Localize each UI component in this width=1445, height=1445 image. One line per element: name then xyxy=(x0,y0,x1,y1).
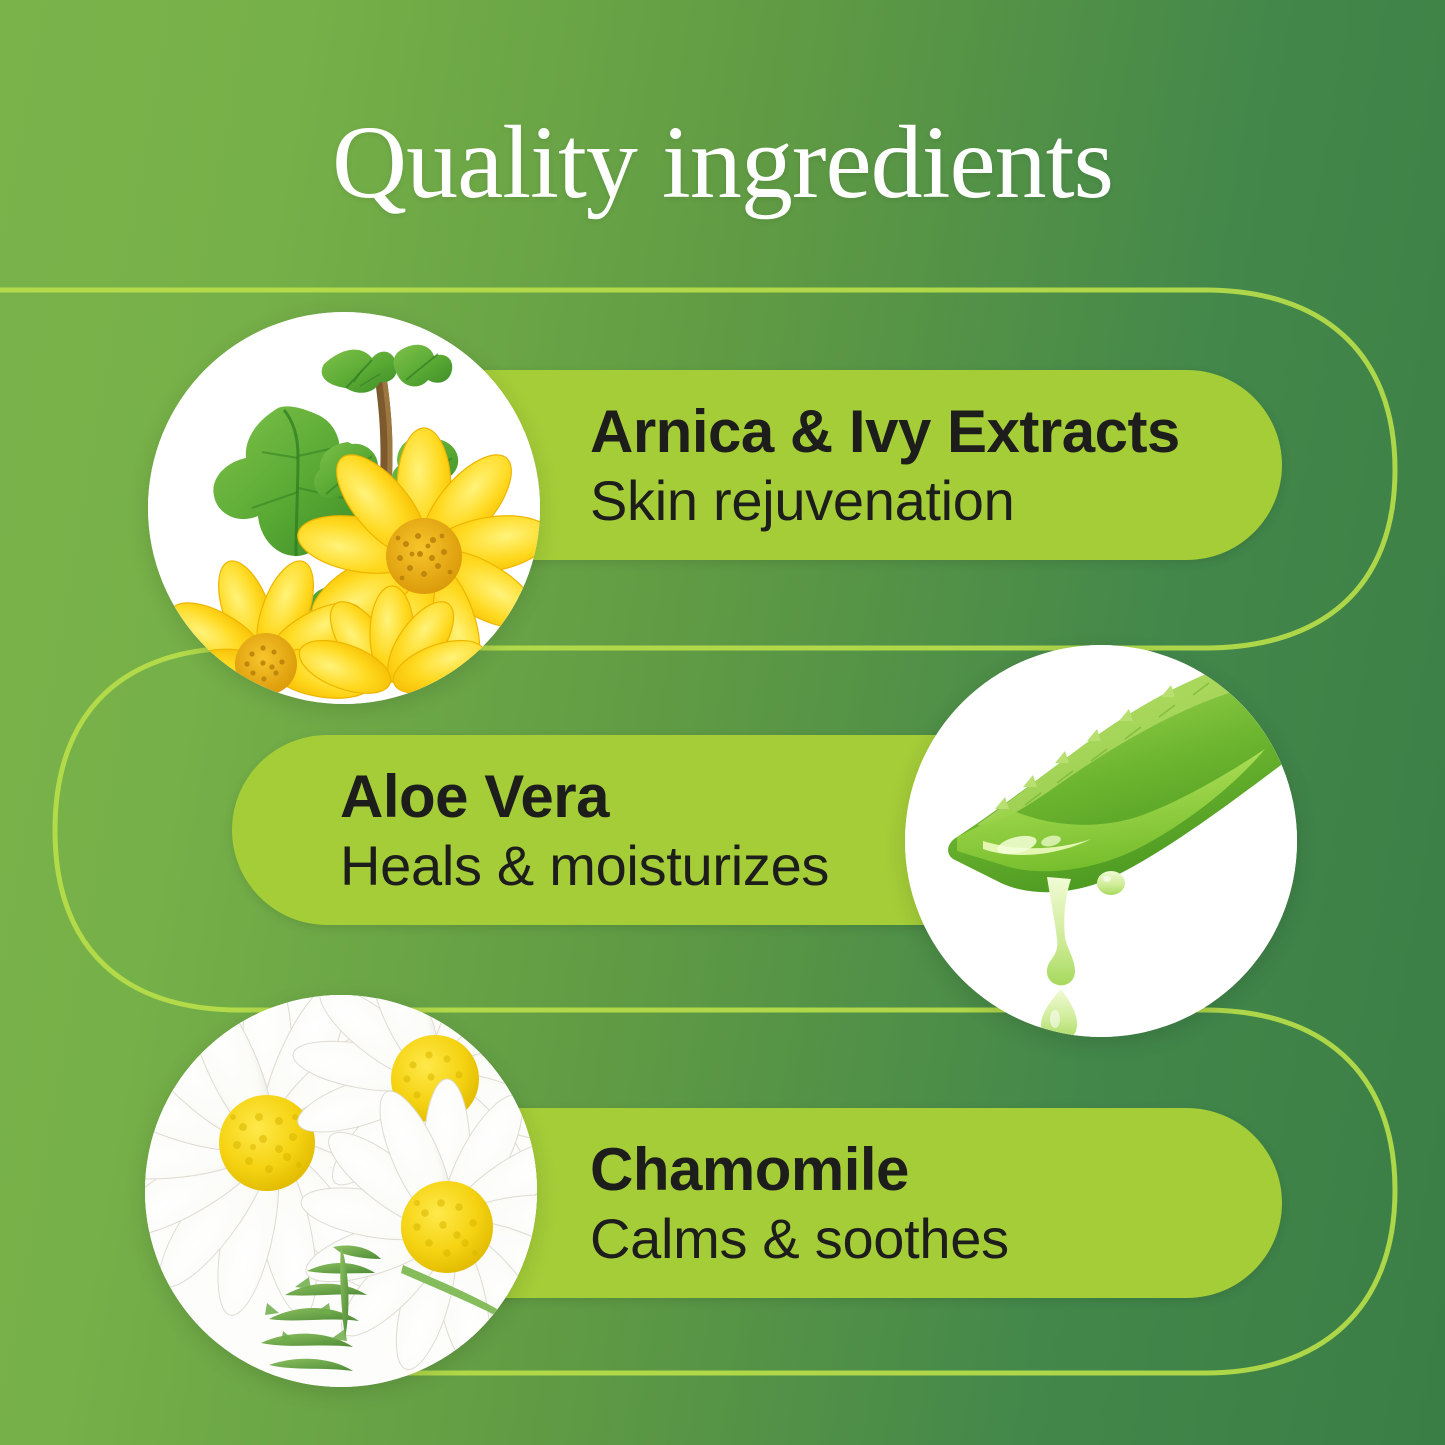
arnica-ivy-illustration xyxy=(148,312,540,704)
chamomile-illustration xyxy=(145,995,537,1387)
aloe-vera-illustration xyxy=(905,645,1297,1037)
ingredient-benefit-arnica-ivy: Skin rejuvenation xyxy=(590,468,1282,533)
ingredient-photo-arnica-ivy xyxy=(148,312,540,704)
ingredient-name-arnica-ivy: Arnica & Ivy Extracts xyxy=(590,397,1282,466)
ingredient-photo-aloe-vera xyxy=(905,645,1297,1037)
ingredient-photo-chamomile xyxy=(145,995,537,1387)
ingredients-infographic: Quality ingredients Arnica & Ivy Extract… xyxy=(0,0,1445,1445)
page-title: Quality ingredients xyxy=(0,108,1445,218)
ingredient-name-chamomile: Chamomile xyxy=(590,1135,1282,1204)
ingredient-benefit-chamomile: Calms & soothes xyxy=(590,1206,1282,1271)
